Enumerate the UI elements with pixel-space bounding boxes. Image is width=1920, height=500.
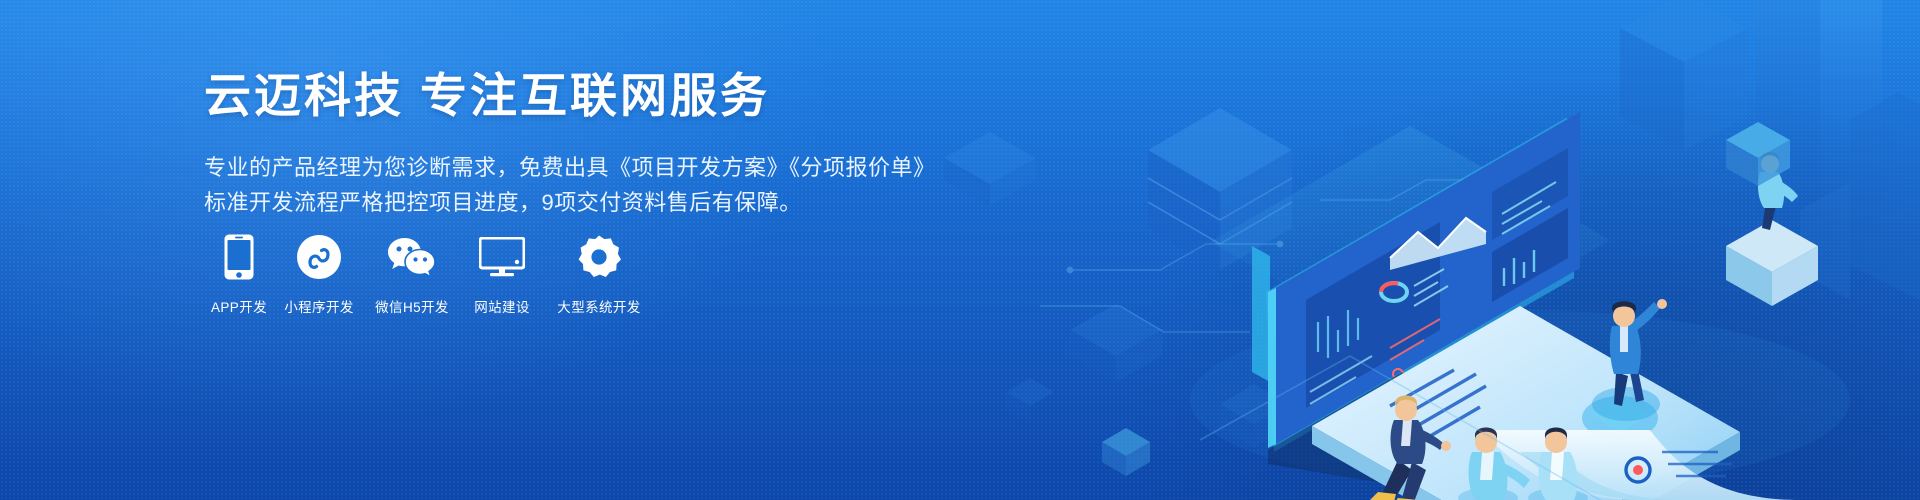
accent-diamond: [1102, 428, 1150, 476]
hologram-dashboard: [1268, 112, 1580, 448]
bottom-right-shadow: [1120, 60, 1920, 500]
monitor-icon: [479, 232, 525, 282]
service-label: 网站建设: [474, 296, 530, 316]
service-item-app[interactable]: APP开发: [204, 232, 274, 316]
circuit-lines: [1040, 177, 1570, 376]
subtitle-line-2: 标准开发流程严格把控项目进度，9项交付资料售后有保障。: [204, 185, 964, 220]
two-people-group: [1458, 428, 1588, 500]
service-item-website[interactable]: 网站建设: [460, 232, 544, 316]
service-list: APP开发 小程序开发: [204, 232, 654, 316]
mini-program-icon: [297, 232, 341, 282]
service-label: 大型系统开发: [557, 296, 640, 316]
analytics-board: [1266, 114, 1680, 500]
standing-person: [1592, 299, 1667, 421]
service-label: 微信H5开发: [375, 296, 449, 316]
data-sheet: [1480, 430, 1800, 500]
hero-illustration: [920, 0, 1920, 500]
side-panel-left: [1168, 314, 1312, 398]
sitting-person: [1370, 396, 1451, 500]
service-item-miniprogram[interactable]: 小程序开发: [274, 232, 364, 316]
service-label: 小程序开发: [284, 296, 354, 316]
service-item-wechat-h5[interactable]: 微信H5开发: [364, 232, 460, 316]
large-tablet: [1268, 306, 1740, 500]
wechat-icon: [387, 232, 437, 282]
floating-cube: [1726, 122, 1790, 186]
service-item-large-system[interactable]: 大型系统开发: [544, 232, 654, 316]
dashboard-screen: [920, 0, 1556, 474]
hero-copy: 云迈科技 专注互联网服务 专业的产品经理为您诊断需求，免费出具《项目开发方案》《…: [204, 68, 964, 220]
city-buildings: [944, 0, 1920, 448]
subtitle-line-1: 专业的产品经理为您诊断需求，免费出具《项目开发方案》《分项报价单》: [204, 150, 964, 185]
hero-banner: 云迈科技 专注互联网服务 专业的产品经理为您诊断需求，免费出具《项目开发方案》《…: [0, 0, 1920, 500]
service-label: APP开发: [211, 296, 267, 316]
person-on-cube: [1726, 152, 1818, 306]
mobile-phone-icon: [224, 232, 254, 282]
page-title: 云迈科技 专注互联网服务: [204, 68, 964, 124]
gear-icon: [577, 232, 621, 282]
dashboard-panel: [1210, 78, 1640, 466]
